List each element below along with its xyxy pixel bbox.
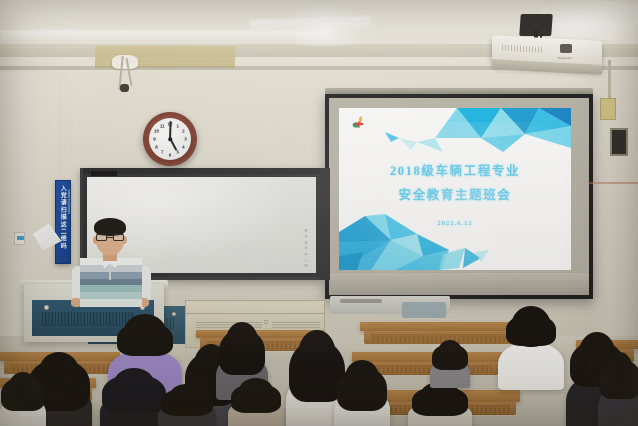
student-mid-center	[158, 384, 216, 426]
qr-recruitment-banner: 入党请扫描这二维码 计算机学院党总支	[55, 180, 71, 264]
ac-grill	[402, 302, 446, 318]
glasses-bridge	[107, 237, 113, 238]
clock-face: 121234567891011	[149, 118, 191, 160]
student-back-bob	[430, 340, 470, 384]
ceiling-light-strip	[0, 30, 330, 39]
projector-label: Projector	[558, 56, 572, 60]
whiteboard-side-panel	[320, 168, 330, 280]
slide-logo-icon	[351, 115, 367, 131]
screen-bottom-bar	[329, 273, 589, 295]
whiteboard-top-cap	[83, 168, 326, 174]
wall-stripe	[588, 182, 638, 184]
wall-clock: 121234567891011	[143, 112, 197, 166]
clock-numeral: 8	[153, 144, 161, 149]
person-hair	[599, 359, 638, 399]
student-white-top-right	[334, 360, 390, 426]
clock-numeral: 3	[182, 137, 190, 142]
person-shoulders	[498, 342, 564, 390]
slide-title: 2018级车辆工程专业 安全教育主题班会	[339, 160, 571, 208]
clock-numeral: 10	[153, 129, 161, 134]
presenter-glasses-icon	[96, 234, 124, 241]
glasses-lens-right	[113, 234, 124, 241]
presenter-shirt-stripe	[80, 299, 142, 306]
clock-center-pin	[168, 137, 172, 141]
projector-lens	[560, 44, 572, 53]
classroom-photo: Projector	[0, 0, 638, 426]
ceiling-hanger-rod	[608, 60, 611, 100]
slide-canvas: · · · · · · · · · · · 2018级车辆工程专业 安全教育主题…	[339, 108, 571, 270]
slide-logo-text: · · · · · · · · · · ·	[371, 117, 388, 127]
clock-numeral: 11	[158, 123, 166, 128]
clock-numeral: 6	[166, 152, 174, 157]
person-hair	[1, 377, 45, 411]
light-glare	[296, 0, 366, 46]
person-hair	[506, 314, 556, 346]
ceiling-fixture	[112, 55, 138, 69]
clock-numeral: 9	[151, 137, 159, 142]
ac-vent-slot	[340, 299, 382, 303]
person-hair	[412, 386, 468, 416]
slide-title-line-1: 2018级车辆工程专业	[339, 160, 571, 184]
projection-screen: · · · · · · · · · · · 2018级车辆工程专业 安全教育主题…	[325, 94, 593, 299]
slide-date: 2022.6.12	[339, 220, 571, 227]
person-hair	[337, 367, 387, 411]
person-hair	[102, 374, 166, 414]
whiteboard-brand-plate	[91, 171, 117, 176]
cabinet-seam	[185, 313, 325, 314]
projector-vent	[502, 45, 542, 53]
presenter-placket	[109, 264, 111, 280]
presenter	[74, 216, 150, 302]
presenter-torso	[80, 258, 142, 306]
glasses-lens-left	[96, 234, 107, 241]
ceiling-connector	[120, 84, 129, 92]
slide-polygon-top	[339, 108, 571, 154]
whiteboard-note: 教 育 技 术 中 心 制	[304, 229, 308, 268]
student-front-right-woman	[408, 382, 472, 426]
wall-switch-panel	[14, 232, 25, 245]
person-hair	[219, 329, 265, 375]
man-white-shirt	[498, 306, 564, 384]
person-hair	[432, 344, 468, 370]
person-hair	[161, 388, 213, 416]
clock-numeral: 2	[179, 129, 187, 134]
student-far-right-edge	[598, 352, 638, 426]
person-hair	[231, 383, 281, 413]
wall-mounted-box	[610, 128, 628, 156]
student-front-left-white	[0, 372, 46, 426]
clock-numeral: 1	[174, 123, 182, 128]
slide-title-line-2: 安全教育主题班会	[339, 184, 571, 208]
ceiling-hanger-box	[600, 98, 616, 120]
podium-knob-left	[44, 305, 49, 310]
banner-subtext: 计算机学院党总支	[66, 189, 70, 215]
student-right-of-center	[228, 378, 284, 426]
person-hair	[117, 322, 173, 356]
clock-numeral: 4	[179, 144, 187, 149]
clock-numeral: 7	[158, 150, 166, 155]
